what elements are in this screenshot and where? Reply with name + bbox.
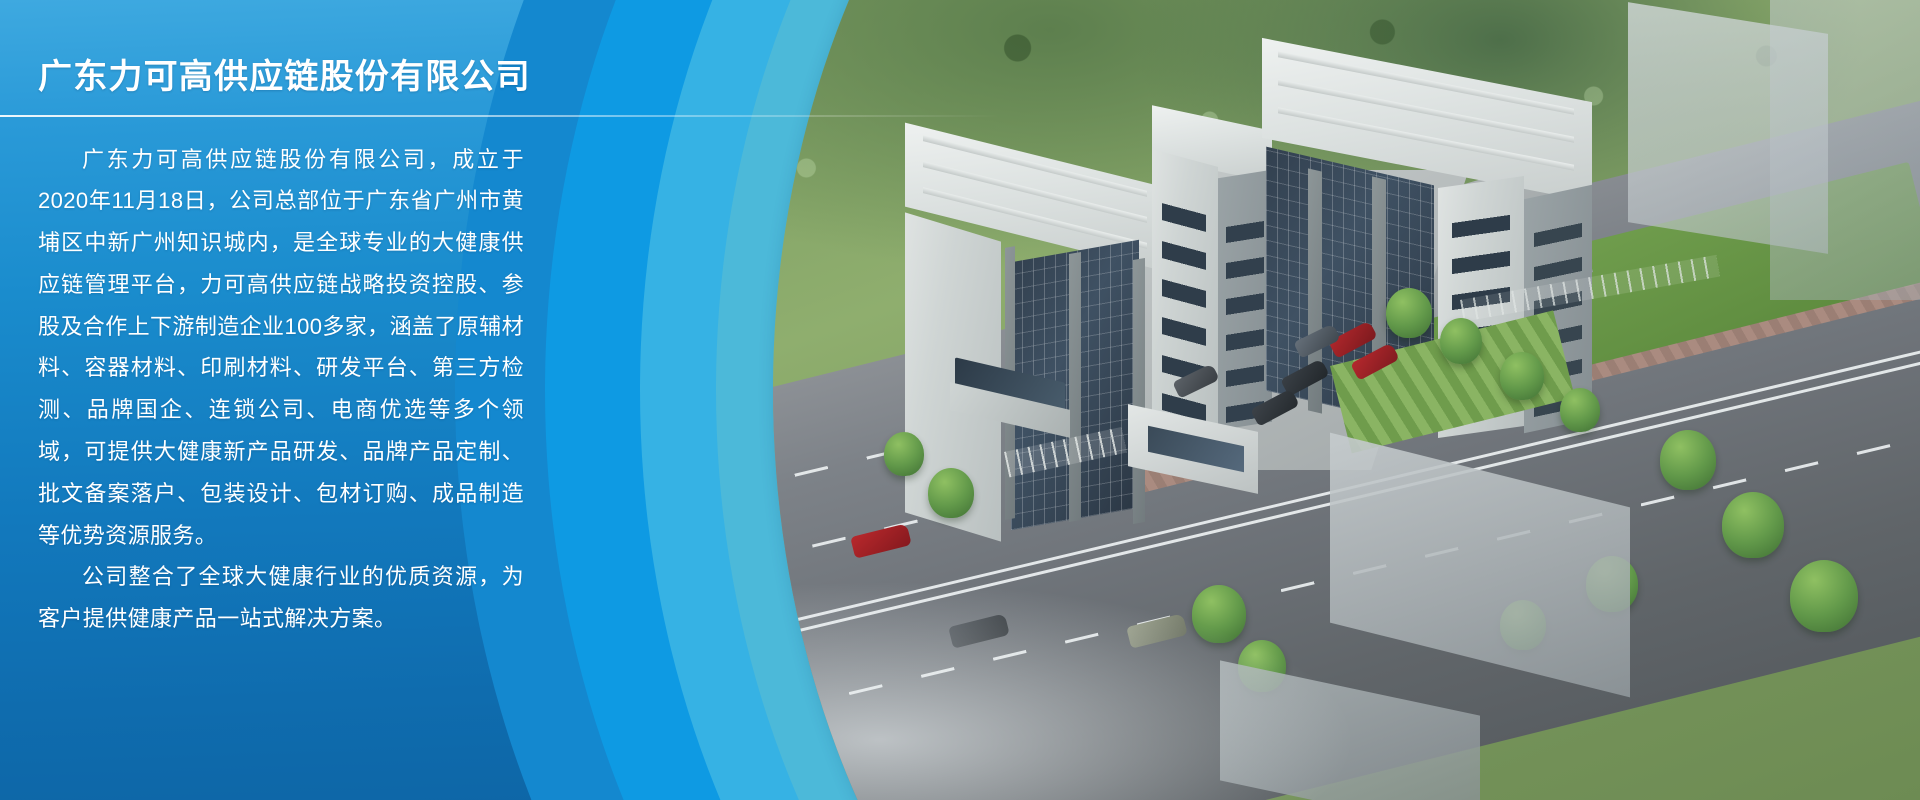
street-tree [1790,560,1858,632]
street-tree [1386,288,1432,338]
paragraph-summary: 公司整合了全球大健康行业的优质资源，为客户提供健康产品一站式解决方案。 [38,556,524,640]
street-tree [884,432,924,476]
paragraph-intro: 广东力可高供应链股份有限公司，成立于2020年11月18日，公司总部位于广东省广… [38,139,524,557]
street-tree [928,468,974,518]
text-column: 广东力可高供应链股份有限公司 广东力可高供应链股份有限公司，成立于2020年11… [0,0,560,640]
street-tree [1660,430,1716,490]
street-tree [1560,388,1600,432]
background-building [1770,0,1920,300]
facility-photo-disc [773,0,1920,800]
street-tree [1500,352,1544,400]
stair-core-side-windows [1226,205,1264,423]
street-tree [1722,492,1784,558]
company-description: 广东力可高供应链股份有限公司，成立于2020年11月18日，公司总部位于广东省广… [38,117,524,641]
facade-pillar [1069,252,1081,522]
aerial-rendering-image [773,0,1920,800]
company-profile-banner: 广东力可高供应链股份有限公司 广东力可高供应链股份有限公司，成立于2020年11… [0,0,1920,800]
facade-pillar [1133,258,1145,524]
street-tree [1440,318,1482,364]
street-tree [1192,585,1246,643]
page-title: 广东力可高供应链股份有限公司 [38,0,524,115]
